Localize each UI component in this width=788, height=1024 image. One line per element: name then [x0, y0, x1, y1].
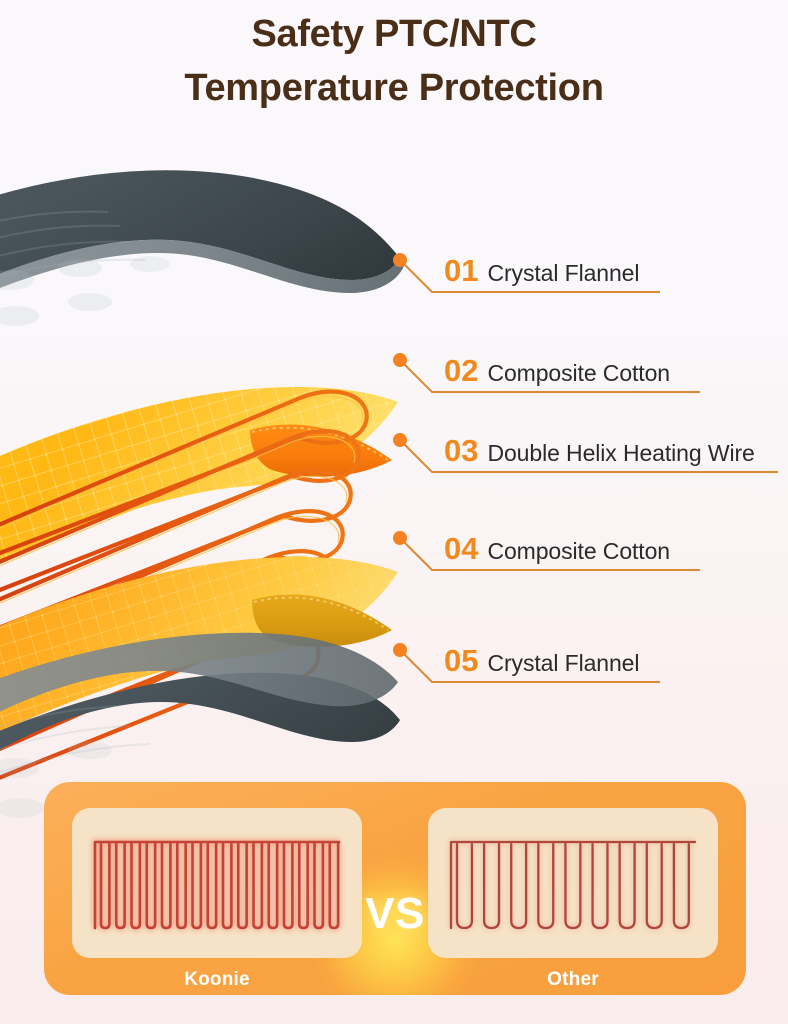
- callout-04-number: 04: [444, 531, 478, 567]
- page-title: Safety PTC/NTC Temperature Protection: [0, 8, 788, 116]
- callout-05-number: 05: [444, 643, 478, 679]
- sparse-wiring-panel: [428, 808, 718, 958]
- layer-crystal-flannel-top: [0, 170, 404, 378]
- left-brand-label: Koonie: [184, 969, 250, 991]
- title-line-2: Temperature Protection: [0, 62, 788, 116]
- callout-01-label: Crystal Flannel: [487, 260, 639, 287]
- dense-wiring-panel: [72, 808, 362, 958]
- dense-wire-diagram: [83, 824, 351, 942]
- comparison-card: Koonie More Dense Wiring Other Sparse Wi…: [44, 782, 746, 995]
- vs-label: VS: [365, 889, 425, 939]
- callout-05-label: Crystal Flannel: [487, 650, 639, 677]
- product-illustration: [0, 130, 470, 890]
- callout-02-number: 02: [444, 353, 478, 389]
- callout-03-label: Double Helix Heating Wire: [487, 440, 754, 467]
- right-brand-label: Other: [547, 969, 599, 991]
- title-line-1: Safety PTC/NTC: [0, 8, 788, 62]
- callout-02-label: Composite Cotton: [487, 360, 670, 387]
- comparison-left: Koonie More Dense Wiring: [72, 808, 362, 995]
- infographic-page: Safety PTC/NTC Temperature Protection: [0, 0, 788, 1024]
- sparse-wire-diagram: [439, 824, 707, 942]
- callout-04-label: Composite Cotton: [487, 538, 670, 565]
- callout-03-number: 03: [444, 433, 478, 469]
- callout-01-number: 01: [444, 253, 478, 289]
- comparison-right: Other Sparse Wiring: [428, 808, 718, 995]
